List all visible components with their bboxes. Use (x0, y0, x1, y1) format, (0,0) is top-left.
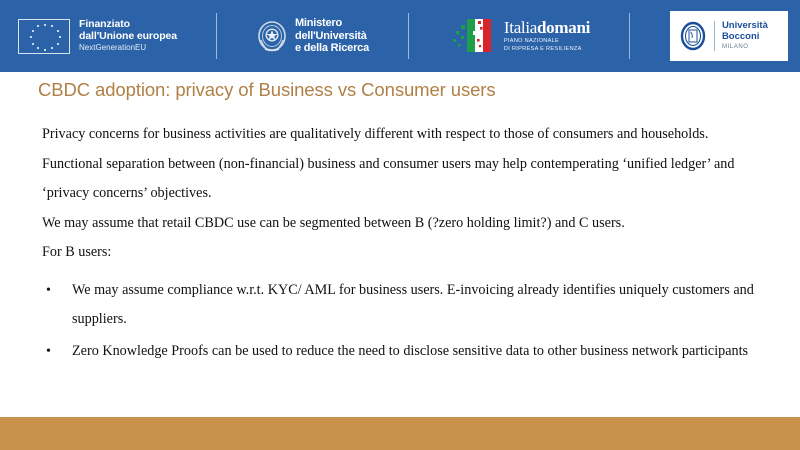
bocconi-line3: MILANO (722, 44, 768, 51)
italiadomani-brand-part1: Italia (504, 18, 537, 37)
eu-flag-icon (18, 19, 70, 54)
bullet-marker-icon: • (46, 337, 51, 367)
bocconi-seal-icon (679, 21, 707, 51)
italiadomani-brand-part2: domani (537, 18, 590, 37)
italiadomani-sub-line1: PIANO NAZIONALE (504, 38, 590, 46)
sponsor-logo-band: Finanziato dall'Unione europea NextGener… (0, 0, 800, 72)
ministero-line2: dell'Università (295, 30, 369, 43)
italian-flag-icon (449, 15, 497, 57)
body-paragraph-1: Privacy concerns for business activities… (42, 120, 764, 209)
slide-title: CBDC adoption: privacy of Business vs Co… (38, 79, 768, 101)
eu-logo-line3: NextGenerationEU (79, 44, 177, 53)
italiadomani-brand: Italiadomani (504, 19, 590, 36)
logo-divider-2 (408, 13, 409, 59)
list-item: • We may assume compliance w.r.t. KYC/ A… (42, 276, 764, 335)
eu-logo-line2: dall'Unione europea (79, 31, 177, 43)
bocconi-logo: Università Bocconi MILANO (670, 0, 788, 72)
bullet-marker-icon: • (46, 276, 51, 306)
bocconi-line2: Bocconi (722, 32, 768, 42)
italiadomani-logo: Italiadomani PIANO NAZIONALE DI RIPRESA … (449, 0, 590, 72)
ministero-logo: Ministero dell'Università e della Ricerc… (257, 0, 369, 72)
bullet-list: • We may assume compliance w.r.t. KYC/ A… (42, 276, 764, 367)
logo-divider-3 (629, 13, 630, 59)
footer-accent-bar (0, 417, 800, 450)
left-edge-strip (0, 72, 3, 417)
ministero-line1: Ministero (295, 17, 369, 30)
body-paragraph-3: For B users: (42, 238, 764, 268)
italian-republic-emblem-icon (257, 20, 287, 52)
eu-funding-logo: Finanziato dall'Unione europea NextGener… (18, 0, 177, 72)
body-paragraph-2: We may assume that retail CBDC use can b… (42, 209, 764, 239)
italiadomani-sub-line2: DI RIPRESA E RESILIENZA (504, 46, 590, 54)
list-item: • Zero Knowledge Proofs can be used to r… (42, 337, 764, 367)
slide-body: Privacy concerns for business activities… (42, 120, 764, 368)
logo-divider-1 (216, 13, 217, 59)
presentation-slide: Finanziato dall'Unione europea NextGener… (0, 0, 800, 450)
bullet-text: We may assume compliance w.r.t. KYC/ AML… (72, 282, 754, 328)
bullet-text: Zero Knowledge Proofs can be used to red… (72, 343, 748, 359)
bocconi-rule (714, 21, 715, 51)
ministero-line3: e della Ricerca (295, 42, 369, 55)
